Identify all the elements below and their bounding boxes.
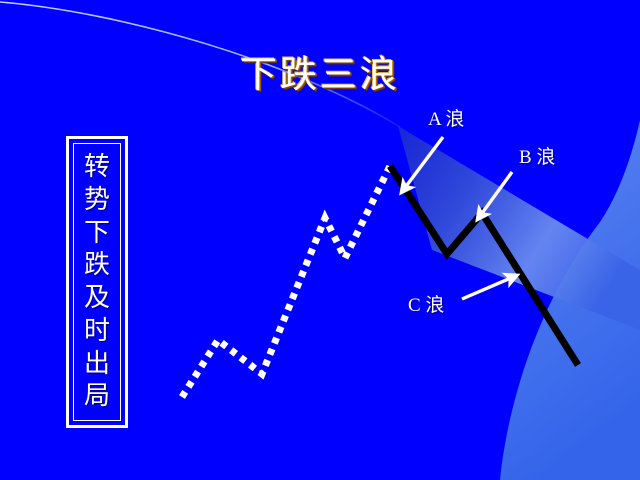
- caption-char: 及: [84, 285, 110, 312]
- arrow-b-wave: [480, 172, 512, 216]
- arrow-c-wave: [462, 277, 513, 299]
- label-a-wave: A 浪: [428, 104, 464, 131]
- slide-canvas: 下跌三浪 转 势 下 跌 及 时 出 局 A 浪 B 浪 C 浪: [0, 0, 640, 480]
- caption-char: 局: [84, 383, 110, 410]
- caption-char: 跌: [84, 252, 110, 279]
- label-c-wave: C 浪: [408, 290, 444, 317]
- caption-box: 转 势 下 跌 及 时 出 局: [66, 136, 128, 428]
- caption-inner-border: 转 势 下 跌 及 时 出 局: [73, 143, 121, 421]
- caption-char: 出: [84, 351, 110, 378]
- caption-char: 时: [84, 318, 110, 345]
- page-title: 下跌三浪: [240, 57, 400, 94]
- caption-char: 下: [84, 220, 110, 247]
- caption-char: 转: [84, 154, 110, 181]
- caption-char: 势: [84, 187, 110, 214]
- label-b-wave: B 浪: [519, 142, 555, 169]
- arrow-a-wave: [404, 137, 443, 189]
